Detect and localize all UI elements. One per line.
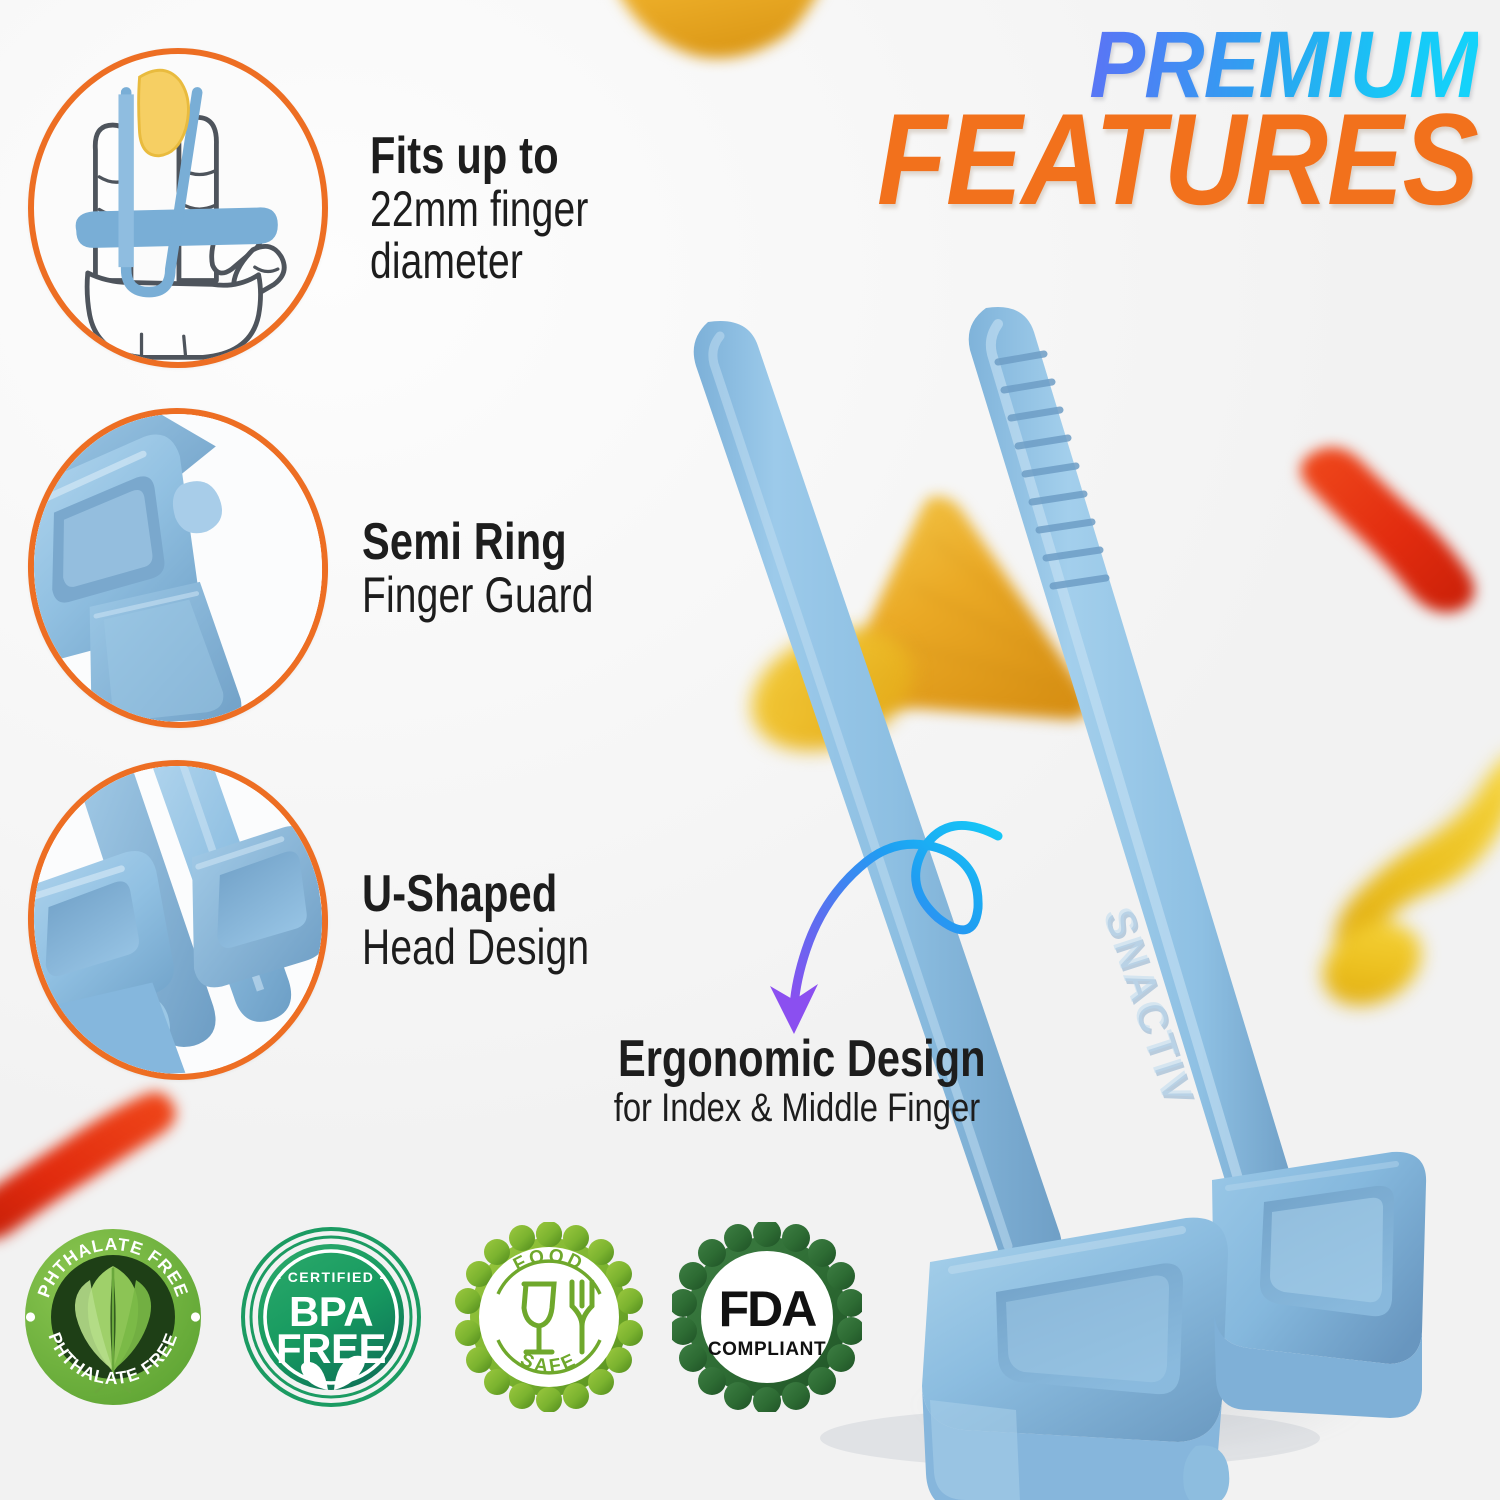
title-line-features: FEATURES	[877, 102, 1478, 216]
feature-subline-1: Finger Guard	[362, 569, 594, 621]
badge-line-1: FDA	[719, 1281, 817, 1337]
bpa-free-badge: - CERTIFIED - BPA FREE	[236, 1222, 426, 1412]
feature-circle-u-shaped-head	[20, 752, 336, 1087]
phthalate-free-badge: PHTHALATE FREE PHTHALATE FREE	[18, 1222, 208, 1412]
fda-monogram-icon: FDA COMPLIANT	[708, 1281, 826, 1360]
feature-subline-2: diameter	[370, 235, 588, 287]
badge-line-2: COMPLIANT	[708, 1339, 826, 1360]
hand-with-tongs-illustration-icon	[34, 54, 322, 361]
feature-callout-fit: Fits up to 22mm finger diameter	[28, 48, 650, 368]
badge-certified-text: - CERTIFIED -	[276, 1269, 385, 1285]
certification-badges: PHTHALATE FREE PHTHALATE FREE - CERT	[18, 1222, 862, 1412]
feature-headline: U-Shaped	[362, 867, 595, 921]
annotation-headline: Ergonomic Design	[618, 1032, 962, 1086]
badge-line-2: FREE	[276, 1325, 386, 1372]
page-title: PREMIUM FEATURES	[795, 24, 1478, 216]
annotation-subline: for Index & Middle Finger	[614, 1088, 967, 1130]
feature-circle-semi-ring	[20, 400, 336, 735]
curved-looping-arrow-icon	[752, 800, 1072, 1050]
feature-headline: Semi Ring	[362, 515, 600, 569]
feature-headline: Fits up to	[370, 129, 594, 183]
feature-callout-semi-ring: Semi Ring Finger Guard	[28, 408, 659, 728]
feature-circle-hand-illustration	[28, 48, 328, 368]
food-safe-badge: FOOD SAFE	[454, 1222, 644, 1412]
fda-compliant-badge: FDA COMPLIANT	[672, 1222, 862, 1412]
feature-callout-u-shaped-head: U-Shaped Head Design	[28, 760, 653, 1080]
product-feature-infographic: PREMIUM FEATURES	[0, 0, 1500, 1500]
feature-text-semi-ring: Semi Ring Finger Guard	[362, 515, 659, 621]
u-shaped-head-closeup-photo-icon	[26, 759, 330, 1081]
feature-subline-1: 22mm finger	[370, 183, 588, 235]
feature-text-u-shaped-head: U-Shaped Head Design	[362, 867, 653, 973]
feature-text-fit: Fits up to 22mm finger diameter	[370, 129, 650, 287]
semi-ring-closeup-photo-icon	[26, 407, 330, 729]
feature-subline-1: Head Design	[362, 921, 589, 973]
